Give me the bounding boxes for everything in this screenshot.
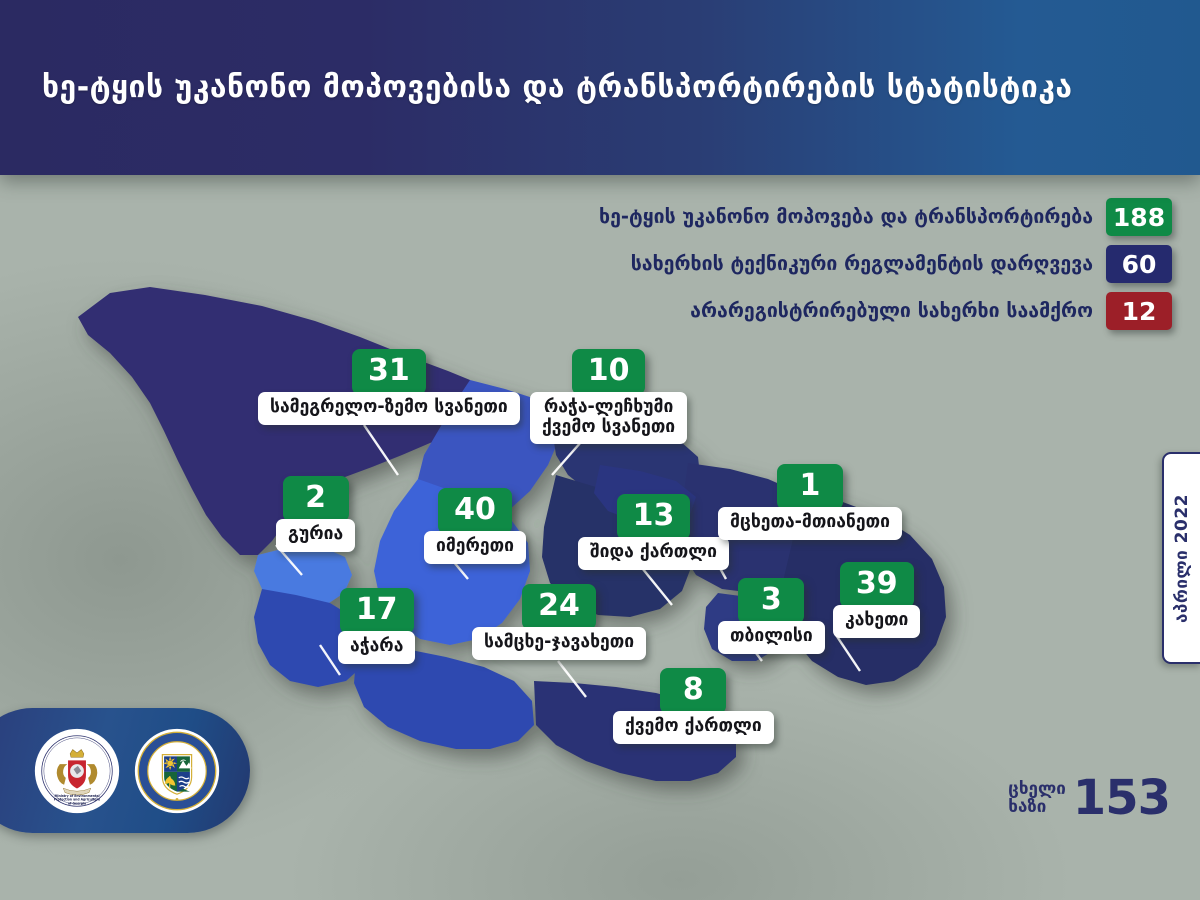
region-value-racha: 10 (572, 349, 646, 395)
region-marker-kakheti: 39 კახეთი (833, 562, 920, 638)
page-title: ხე-ტყის უკანონო მოპოვებისა და ტრანსპორტი… (42, 73, 1073, 103)
legend-row: სახერხის ტექნიკური რეგლამენტის დარღვევა … (599, 245, 1172, 283)
leader-line-kakheti (836, 635, 860, 671)
region-value-kakheti: 39 (840, 562, 914, 608)
svg-text:of Georgia: of Georgia (68, 801, 86, 805)
region-marker-shida-kartli: 13 შიდა ქართლი (578, 494, 729, 570)
region-marker-guria: 2 გურია (276, 476, 355, 552)
hotline: ცხელი ხაზი 153 (1008, 778, 1170, 819)
date-tab-label: აპრილი 2022 (1172, 494, 1192, 623)
region-label-kvemo-kartli: ქვემო ქართლი (613, 711, 774, 744)
region-label-racha: რაჭა-ლეჩხუმი ქვემო სვანეთი (530, 392, 687, 444)
region-marker-samtskhe: 24 სამცხე-ჯავახეთი (472, 584, 646, 660)
region-label-adjara: აჭარა (338, 631, 415, 664)
region-marker-imereti: 40 იმერეთი (424, 488, 526, 564)
legend-badge-unregistered-sawmill: 12 (1106, 292, 1172, 330)
region-value-tbilisi: 3 (738, 578, 804, 624)
legend-badge-sawmill-regulation: 60 (1106, 245, 1172, 283)
region-value-guria: 2 (283, 476, 349, 522)
region-label-mtskheta: მცხეთა-მთიანეთი (718, 507, 902, 540)
legend-label-illegal-logging: ხე-ტყის უკანონო მოპოვება და ტრანსპორტირე… (599, 207, 1093, 227)
region-marker-adjara: 17 აჭარა (338, 588, 415, 664)
hotline-number: 153 (1073, 778, 1170, 819)
legend-badge-illegal-logging: 188 (1106, 198, 1172, 236)
legend-label-unregistered-sawmill: არარეგისტრირებული სახერხი საამქრო (690, 301, 1093, 321)
ministry-emblem-icon: Ministry of Environmental Protection and… (34, 728, 120, 814)
region-label-tbilisi: თბილისი (718, 621, 825, 654)
region-marker-samegrelo: 31 სამეგრელო-ზემო სვანეთი (258, 349, 520, 425)
page-header: ხე-ტყის უკანონო მოპოვებისა და ტრანსპორტი… (0, 0, 1200, 175)
department-emblem-icon (134, 728, 220, 814)
region-label-guria: გურია (276, 519, 355, 552)
region-marker-racha: 10 რაჭა-ლეჩხუმი ქვემო სვანეთი (530, 349, 687, 444)
date-tab: აპრილი 2022 (1162, 452, 1200, 664)
region-value-imereti: 40 (438, 488, 512, 534)
region-value-mtskheta: 1 (777, 464, 843, 510)
legend-label-sawmill-regulation: სახერხის ტექნიკური რეგლამენტის დარღვევა (631, 254, 1093, 274)
region-label-imereti: იმერეთი (424, 531, 526, 564)
leader-line-samegrelo (364, 425, 398, 475)
region-value-adjara: 17 (340, 588, 414, 634)
region-marker-kvemo-kartli: 8 ქვემო ქართლი (613, 668, 774, 744)
region-value-shida-kartli: 13 (617, 494, 691, 540)
region-marker-tbilisi: 3 თბილისი (718, 578, 825, 654)
region-label-shida-kartli: შიდა ქართლი (578, 537, 729, 570)
region-value-kvemo-kartli: 8 (660, 668, 726, 714)
region-label-samtskhe: სამცხე-ჯავახეთი (472, 627, 646, 660)
footer-logo-pill: Ministry of Environmental Protection and… (0, 708, 250, 833)
region-value-samegrelo: 31 (352, 349, 426, 395)
region-label-kakheti: კახეთი (833, 605, 920, 638)
legend-row: ხე-ტყის უკანონო მოპოვება და ტრანსპორტირე… (599, 198, 1172, 236)
hotline-words: ცხელი ხაზი (1008, 781, 1066, 817)
hotline-label-line2: ხაზი (1008, 799, 1046, 817)
legend-row: არარეგისტრირებული სახერხი საამქრო 12 (599, 292, 1172, 330)
hotline-label-line1: ცხელი (1008, 781, 1066, 799)
region-value-samtskhe: 24 (522, 584, 596, 630)
region-label-samegrelo: სამეგრელო-ზემო სვანეთი (258, 392, 520, 425)
infographic-root: ხე-ტყის უკანონო მოპოვებისა და ტრანსპორტი… (0, 0, 1200, 900)
legend: ხე-ტყის უკანონო მოპოვება და ტრანსპორტირე… (599, 198, 1172, 330)
leader-line-adjara (320, 645, 340, 675)
region-marker-mtskheta: 1 მცხეთა-მთიანეთი (718, 464, 902, 540)
leader-line-samtskhe (558, 661, 586, 697)
